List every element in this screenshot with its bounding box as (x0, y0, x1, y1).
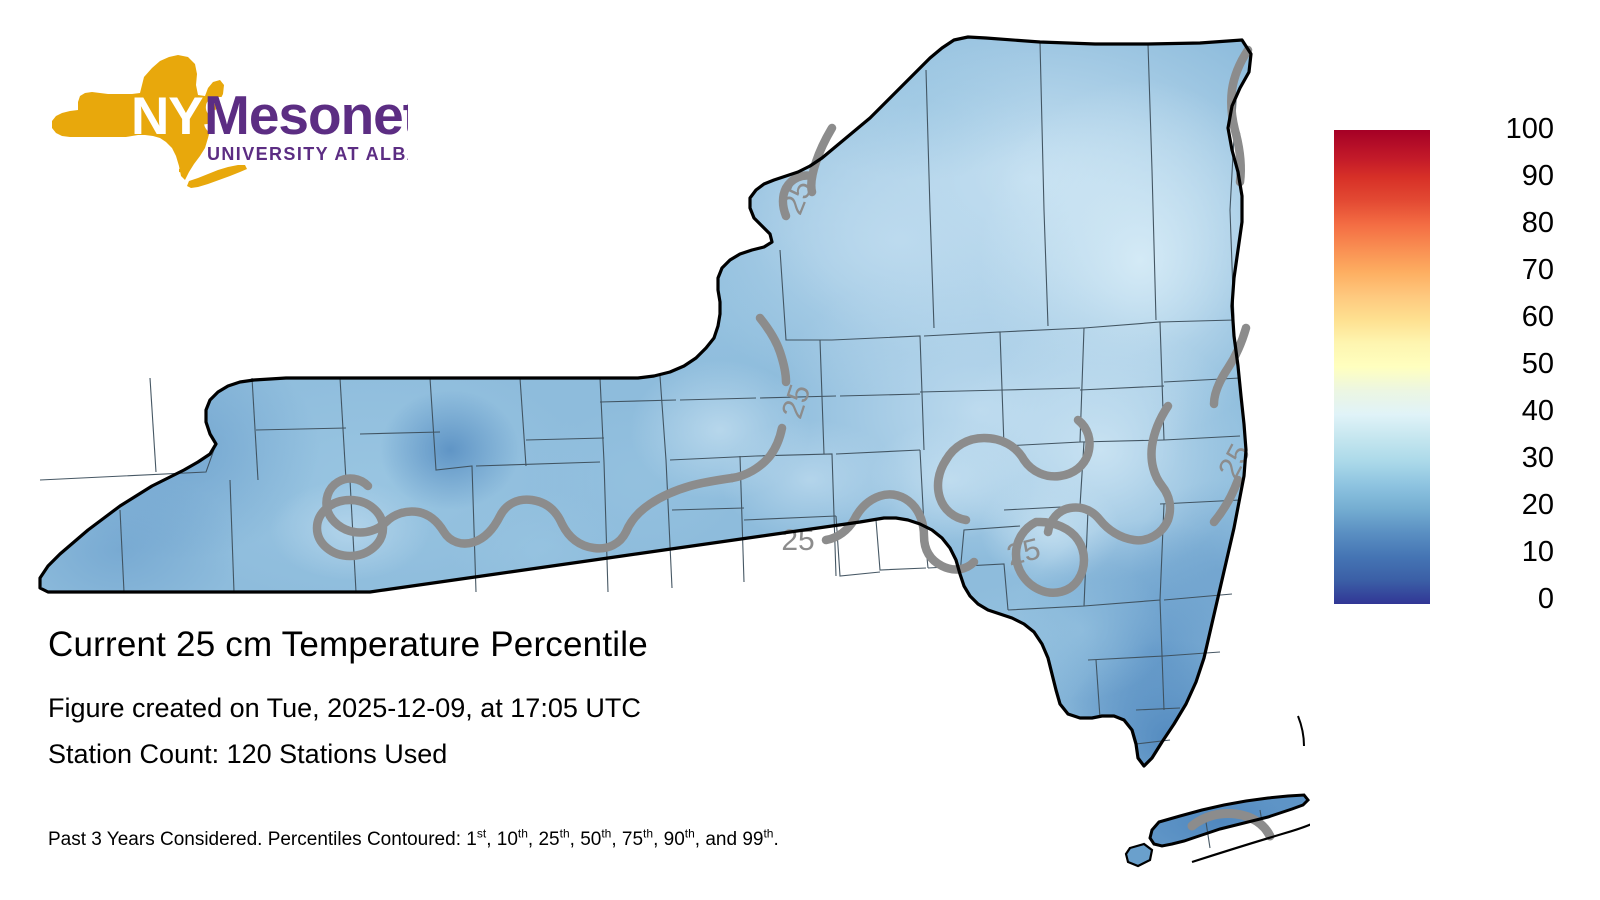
colorbar-tick-30: 30 (1442, 444, 1554, 473)
footnote-prefix: Past 3 Years Considered. Percentiles Con… (48, 829, 466, 850)
footnote-sup-75: th (643, 827, 653, 841)
footnote-item-75: 75 (622, 829, 643, 850)
footnote-sup-10: th (518, 827, 528, 841)
figure-footnote: Past 3 Years Considered. Percentiles Con… (48, 828, 779, 852)
footnote-end: . (773, 829, 778, 850)
footnote-item-90: 90 (664, 829, 685, 850)
footnote-item-99: 99 (742, 829, 763, 850)
station-count-text: Station Count: 120 Stations Used (48, 738, 1008, 771)
colorbar-tick-10: 10 (1442, 538, 1554, 567)
colorbar-tick-100: 100 (1442, 115, 1554, 144)
colorbar-gradient (1334, 130, 1430, 604)
figure-caption: Current 25 cm Temperature Percentile Fig… (48, 624, 1008, 771)
figure-title: Current 25 cm Temperature Percentile (48, 624, 1008, 666)
colorbar-tick-20: 20 (1442, 491, 1554, 520)
colorbar-tick-90: 90 (1442, 162, 1554, 191)
colorbar-tick-50: 50 (1442, 350, 1554, 379)
colorbar-tick-40: 40 (1442, 397, 1554, 426)
footnote-item-50: 50 (580, 829, 601, 850)
footnote-item-1: 1 (466, 829, 477, 850)
footnote-sup-1: st (477, 827, 486, 841)
footnote-sup-25: th (560, 827, 570, 841)
figure-created-timestamp: Figure created on Tue, 2025-12-09, at 17… (48, 692, 1008, 725)
colorbar-tick-0: 0 (1442, 585, 1554, 614)
colorbar-tick-80: 80 (1442, 209, 1554, 238)
footnote-sup-90: th (685, 827, 695, 841)
colorbar: 100 90 80 70 60 50 40 30 20 10 0 (1334, 130, 1574, 608)
footnote-item-10: 10 (497, 829, 518, 850)
colorbar-tick-70: 70 (1442, 256, 1554, 285)
footnote-sup-99: th (763, 827, 773, 841)
footnote-sup-50: th (601, 827, 611, 841)
colorbar-tick-60: 60 (1442, 303, 1554, 332)
footnote-item-25: 25 (538, 829, 559, 850)
